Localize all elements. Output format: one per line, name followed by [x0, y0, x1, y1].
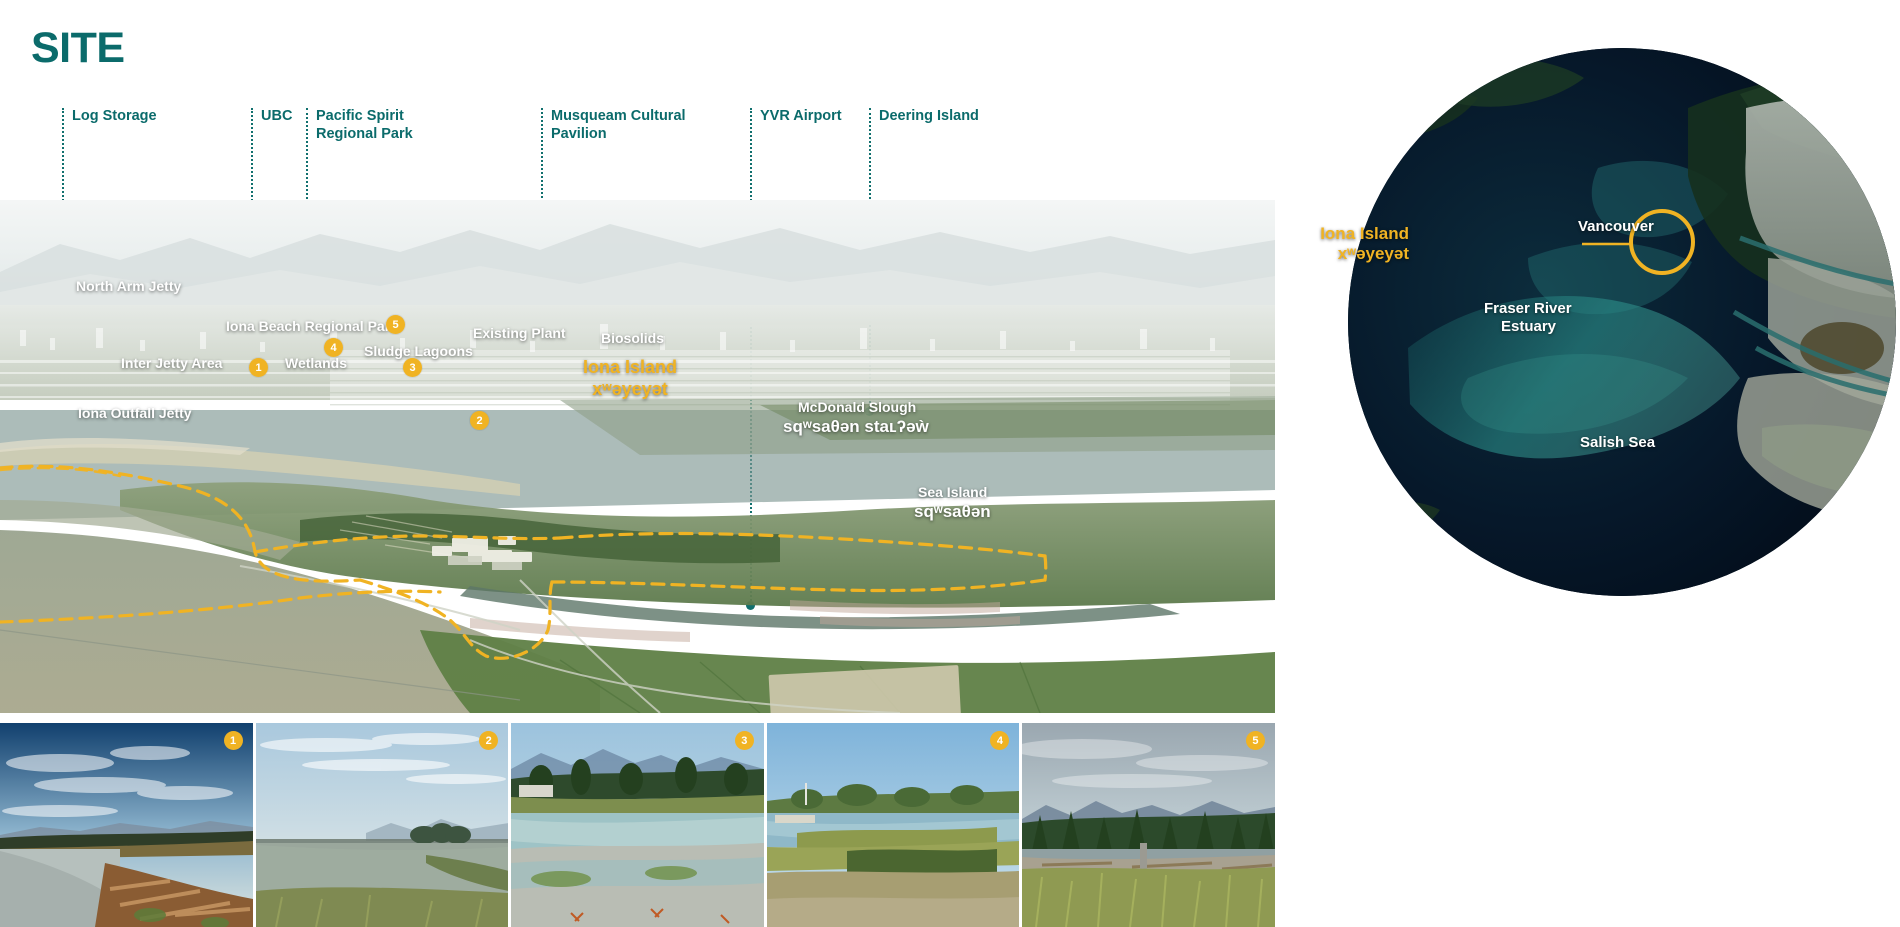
- aerial-label: Iona Outfall Jetty: [78, 405, 192, 422]
- aerial-site-rendering: North Arm JettyInter Jetty AreaIona Outf…: [0, 200, 1275, 713]
- thumbnail-image: [767, 723, 1020, 927]
- aerial-label: North Arm Jetty: [76, 278, 181, 295]
- log-storage-grass-photo[interactable]: 5: [1022, 723, 1275, 927]
- aerial-label: Iona Beach Regional Park: [226, 318, 398, 335]
- iona-island-name-en: Iona Island: [583, 357, 677, 379]
- page-title: SITE: [31, 27, 125, 70]
- wetland-pond-photo[interactable]: 4: [767, 723, 1020, 927]
- aerial-label: Existing Plant: [473, 325, 566, 342]
- map-hotspot-4[interactable]: 4: [324, 338, 343, 357]
- callout-label: UBC: [261, 108, 292, 126]
- satellite-label: Salish Sea: [1580, 434, 1655, 452]
- photo-thumbnail-strip: 1 2 3 4 5: [0, 723, 1275, 927]
- thumbnail-badge-5[interactable]: 5: [1246, 731, 1265, 750]
- aerial-label: Sea Island: [918, 484, 987, 501]
- aerial-label: sqʷsaθən: [914, 502, 991, 523]
- thumbnail-image: [1022, 723, 1275, 927]
- aerial-label: Biosolids: [601, 330, 664, 347]
- callout-label: YVR Airport: [760, 108, 842, 126]
- aerial-label: Sludge Lagoons: [364, 343, 473, 360]
- map-hotspot-2[interactable]: 2: [470, 411, 489, 430]
- iona-island-name-hq: xʷəyeyət: [583, 379, 677, 401]
- jetty-shoreline-photo[interactable]: 2: [256, 723, 509, 927]
- callout-deering-island: Deering Island: [879, 108, 979, 126]
- aerial-label: McDonald Slough: [798, 399, 916, 416]
- tidal-flats-photo[interactable]: 3: [511, 723, 764, 927]
- callout-yvr-airport: YVR Airport: [760, 108, 842, 126]
- map-hotspot-3[interactable]: 3: [403, 358, 422, 377]
- satellite-label: Estuary: [1501, 318, 1556, 336]
- satellite-iona-name-en: Iona Island: [1299, 224, 1409, 244]
- thumbnail-image: [256, 723, 509, 927]
- callout-label: Deering Island: [879, 108, 979, 126]
- aerial-iona-island-label: Iona Islandxʷəyeyət: [583, 357, 677, 401]
- right-column: VancouverFraser RiverEstuarySalish SeaIo…: [1275, 0, 1900, 927]
- aerial-label: sqʷsaθən staʟʔəẁ: [783, 417, 929, 438]
- thumbnail-image: [511, 723, 764, 927]
- callout-musqueam-cultural-pavilion: Musqueam Cultural Pavilion: [551, 108, 686, 143]
- thumbnail-badge-3[interactable]: 3: [735, 731, 754, 750]
- satellite-iona-island-label: Iona Islandxʷəyeyət: [1299, 224, 1409, 265]
- satellite-label: Vancouver: [1578, 218, 1654, 236]
- callout-group: Log StorageUBCPacific Spirit Regional Pa…: [0, 108, 1275, 148]
- satellite-locator-map: [1348, 48, 1896, 596]
- callout-pacific-spirit-regional-park: Pacific Spirit Regional Park: [316, 108, 413, 143]
- satellite-label: Fraser River: [1484, 300, 1572, 318]
- map-hotspot-1[interactable]: 1: [249, 358, 268, 377]
- left-column: SITE Log StorageUBCPacific Spirit Region…: [0, 0, 1275, 927]
- aerial-label: Inter Jetty Area: [121, 355, 222, 372]
- callout-label: Musqueam Cultural Pavilion: [551, 108, 686, 143]
- callout-label: Log Storage: [72, 108, 157, 126]
- thumbnail-badge-1[interactable]: 1: [224, 731, 243, 750]
- map-hotspot-5[interactable]: 5: [386, 315, 405, 334]
- driftwood-beach-photo[interactable]: 1: [0, 723, 253, 927]
- site-page: SITE Log StorageUBCPacific Spirit Region…: [0, 0, 1900, 927]
- thumbnail-image: [0, 723, 253, 927]
- callout-log-storage: Log Storage: [72, 108, 157, 126]
- callout-ubc: UBC: [261, 108, 292, 126]
- satellite-iona-name-hq: xʷəyeyət: [1299, 244, 1409, 264]
- aerial-label: Wetlands: [285, 355, 347, 372]
- callout-label: Pacific Spirit Regional Park: [316, 108, 413, 143]
